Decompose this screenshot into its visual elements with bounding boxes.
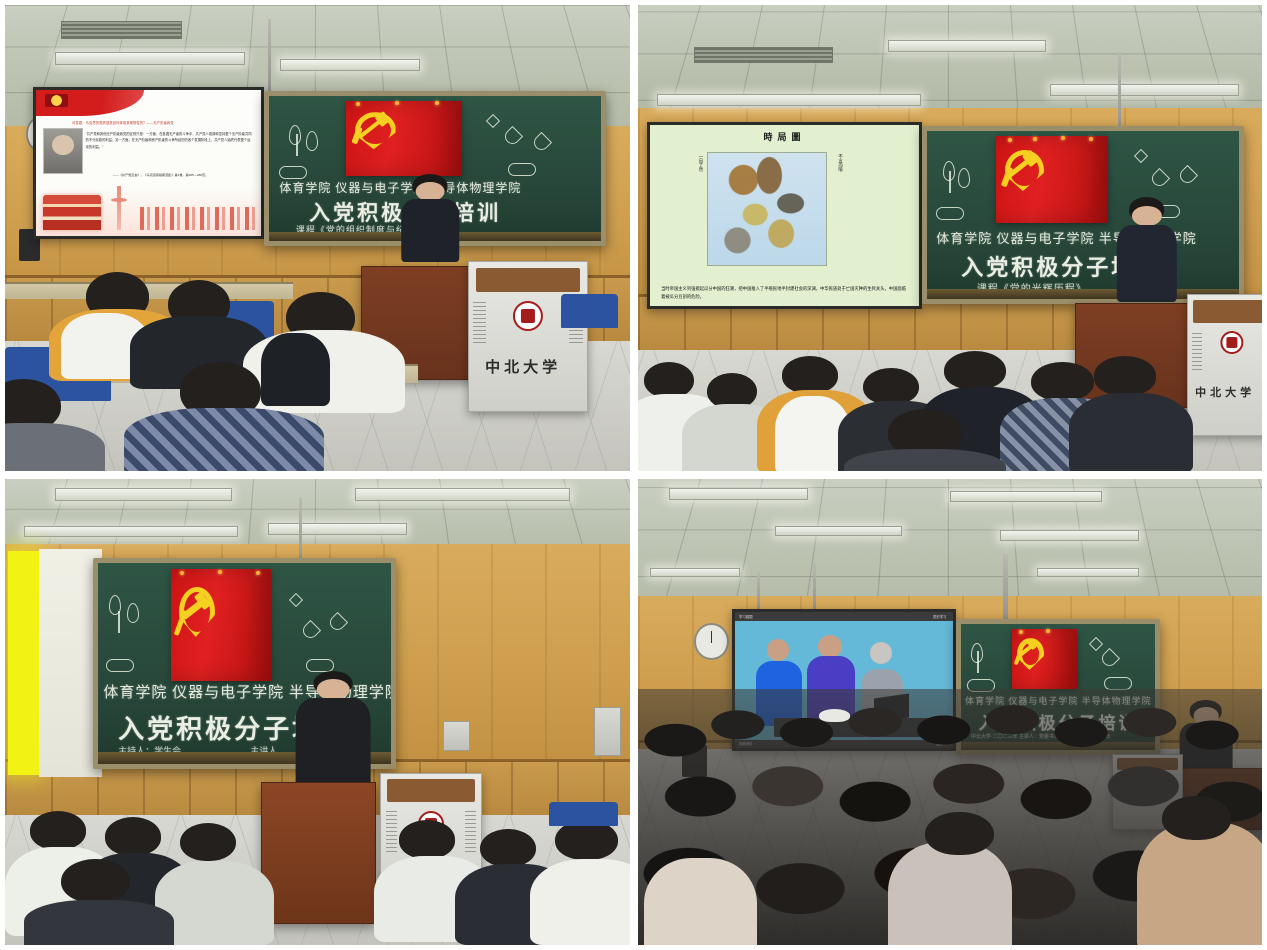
party-flag [171, 569, 271, 681]
photo-top-right[interactable]: 時局圖 一目了然 不言而喻 当时帝国主义列强掀起瓜分中国的狂潮，把中国推入了半殖… [634, 0, 1267, 475]
projection-screen: 時局圖 一目了然 不言而喻 当时帝国主义列强掀起瓜分中国的狂潮，把中国推入了半殖… [647, 122, 921, 310]
photo-top-right-image: 時局圖 一目了然 不言而喻 当时帝国主义列强掀起瓜分中国的狂潮，把中国推入了半殖… [638, 5, 1262, 471]
slide-body: “共产党和其他无产阶级政党的区别只是：一方面，在各国无产者的斗争中，共产党人强调… [86, 131, 253, 151]
audience-torso [530, 859, 630, 945]
slide-caption: 当时帝国主义列强掀起瓜分中国的狂潮，把中国推入了半殖民地半封建社会的深渊，中华民… [661, 285, 908, 301]
audience [638, 689, 1262, 945]
chalk-leaf-doodle [958, 168, 970, 188]
chalk-leaf-doodle [943, 161, 955, 181]
ceiling-lamp [55, 52, 245, 65]
audience-torso [261, 333, 330, 406]
ceiling-vent [61, 21, 182, 39]
photo-bottom-right[interactable]: 学习强国 党史学习 视频资料 播放中 [634, 475, 1267, 950]
presenter-head [1131, 206, 1161, 227]
party-flag [1012, 629, 1078, 689]
presenter-suit [1116, 225, 1176, 303]
ceiling-lamp [1050, 84, 1239, 96]
chalk-cloud-doodle [1104, 677, 1132, 690]
ceiling-lamp [1000, 530, 1139, 540]
blackboard: 体育学院 仪器与电子学院 半导体物理学院 入党积极分子培训 课程《党的光辉历程》 [922, 126, 1244, 304]
projector-rod [757, 572, 760, 614]
ceiling-lamp [1037, 568, 1139, 577]
audience-head [644, 362, 694, 398]
projection-screen-edge [8, 551, 39, 775]
slide-header: 问答题：马克思的物质观是如何体现其唯物性的？——无产阶级政党 [72, 120, 248, 125]
audience-head [1162, 796, 1231, 840]
video-tag-top-left: 学习强国 [739, 614, 753, 619]
presenter-head [317, 679, 350, 700]
ceiling-lamp [268, 523, 408, 534]
wall-panel [594, 707, 621, 756]
video-person-head [767, 639, 789, 661]
audience-head [30, 811, 86, 850]
audience-head [944, 351, 1006, 390]
audience-head [555, 820, 618, 860]
desk-row [5, 282, 293, 299]
white-cap-icon [819, 709, 850, 722]
ceiling-lamp [24, 526, 239, 537]
party-emblem-icon [45, 94, 68, 107]
chalk-cloud-doodle [279, 166, 307, 179]
slide-map-image [707, 152, 827, 267]
presenter-jacket [296, 698, 371, 789]
audience-head [863, 368, 919, 406]
slide-title: 時局圖 [650, 130, 918, 143]
chalk-heart-doodle [1099, 648, 1120, 669]
audience-torso [644, 858, 756, 945]
audience-head [782, 356, 838, 394]
photo-top-left-image: 问答题：马克思的物质观是如何体现其唯物性的？——无产阶级政党 “共产党和其他无产… [5, 5, 630, 471]
audience-head [61, 859, 130, 904]
chalk-leaf-doodle [306, 131, 318, 151]
audience [5, 229, 630, 471]
chalk-cloud-doodle [508, 163, 536, 176]
tiananmen-icon [43, 195, 102, 230]
slide-citation: ——《共产党宣言》，《马克思恩格斯选集》第1卷，第285—286页。 [113, 172, 253, 177]
video-person-head [870, 642, 892, 664]
chalk-leaf-doodle [109, 595, 121, 615]
hammer-sickle-icon [1015, 636, 1037, 664]
ceiling-lamp [355, 488, 570, 501]
photo-bottom-right-image: 学习强国 党史学习 视频资料 播放中 [638, 479, 1262, 945]
slide-shiju-map: 時局圖 一目了然 不言而喻 当时帝国主义列强掀起瓜分中国的狂潮，把中国推入了半殖… [650, 125, 918, 307]
ceiling-lamp [55, 488, 232, 501]
tv-tower-icon [117, 186, 121, 230]
chalk-heart-doodle [1177, 165, 1198, 186]
party-flag [996, 136, 1108, 223]
audience-torso [1069, 393, 1194, 471]
hammer-sickle-icon [177, 583, 211, 635]
chalk-leaf-doodle [289, 125, 301, 145]
party-flag [346, 101, 462, 176]
chalk-diamond-doodle [1089, 637, 1103, 651]
chalk-plant-doodle [118, 611, 120, 633]
console-top [1193, 300, 1262, 322]
audience-torso [5, 423, 105, 471]
ceiling-lamp [657, 94, 921, 106]
ceiling-lamp [669, 488, 808, 499]
audience-torso [1137, 822, 1262, 945]
slide-right-column: 不言而喻 [830, 154, 843, 172]
photo-collage: 问答题：马克思的物质观是如何体现其唯物性的？——无产阶级政党 “共产党和其他无产… [0, 0, 1267, 950]
chalk-heart-doodle [1148, 168, 1169, 189]
ceiling-vent [694, 47, 833, 63]
audience-head [105, 817, 161, 856]
projection-screen: 问答题：马克思的物质观是如何体现其唯物性的？——无产阶级政党 “共产党和其他无产… [33, 87, 264, 240]
projector-rod [813, 563, 816, 614]
audience-torso [888, 842, 1013, 945]
chalk-heart-doodle [326, 612, 347, 633]
audience [638, 331, 1262, 471]
slide-quote: 问答题：马克思的物质观是如何体现其唯物性的？——无产阶级政党 “共产党和其他无产… [36, 90, 261, 237]
chalk-cloud-doodle [936, 207, 964, 220]
slide-portrait [43, 128, 83, 174]
audience-head [399, 820, 455, 859]
chalk-leaf-doodle [971, 643, 983, 663]
photo-bottom-left[interactable]: 体育学院 仪器与电子学院 半导体物理学院 入党积极分子培训 主持人：学生会 主讲… [0, 475, 634, 950]
video-top-bar [735, 612, 953, 620]
slide-left-column: 一目了然 [691, 154, 704, 172]
hammer-sickle-icon [353, 110, 392, 145]
audience-head [1031, 362, 1093, 401]
audience-torso [24, 900, 174, 945]
chalk-heart-doodle [501, 126, 522, 147]
ceiling-lamp [775, 526, 902, 536]
video-person-head [818, 635, 842, 658]
chalk-diamond-doodle [486, 114, 500, 128]
audience-head [480, 829, 536, 868]
chalk-leaf-doodle [127, 603, 139, 623]
chalk-diamond-doodle [1134, 149, 1148, 163]
audience-head [1094, 356, 1156, 395]
chair [561, 294, 617, 328]
ceiling-lamp [950, 491, 1102, 502]
chair [549, 802, 618, 826]
photo-top-left[interactable]: 问答题：马克思的物质观是如何体现其唯物性的？——无产阶级政党 “共产党和其他无产… [0, 0, 634, 475]
skyline-art [140, 207, 257, 230]
audience-head [180, 823, 236, 862]
chalk-diamond-doodle [289, 593, 303, 607]
video-tag-top-right: 党史学习 [933, 614, 947, 619]
chalk-heart-doodle [531, 132, 552, 153]
chalk-cloud-doodle [106, 659, 134, 672]
audience [5, 796, 630, 945]
ceiling-lamp [650, 568, 739, 577]
ceiling-lamp [280, 59, 420, 71]
photo-bottom-left-image: 体育学院 仪器与电子学院 半导体物理学院 入党积极分子培训 主持人：学生会 主讲… [5, 479, 630, 945]
audience-torso [124, 408, 324, 471]
wall-box [443, 721, 470, 751]
projector-rod [1003, 554, 1008, 629]
hammer-sickle-icon [1002, 147, 1040, 187]
chalk-heart-doodle [300, 620, 321, 641]
audience-head [925, 812, 994, 856]
ceiling-lamp [888, 40, 1046, 52]
